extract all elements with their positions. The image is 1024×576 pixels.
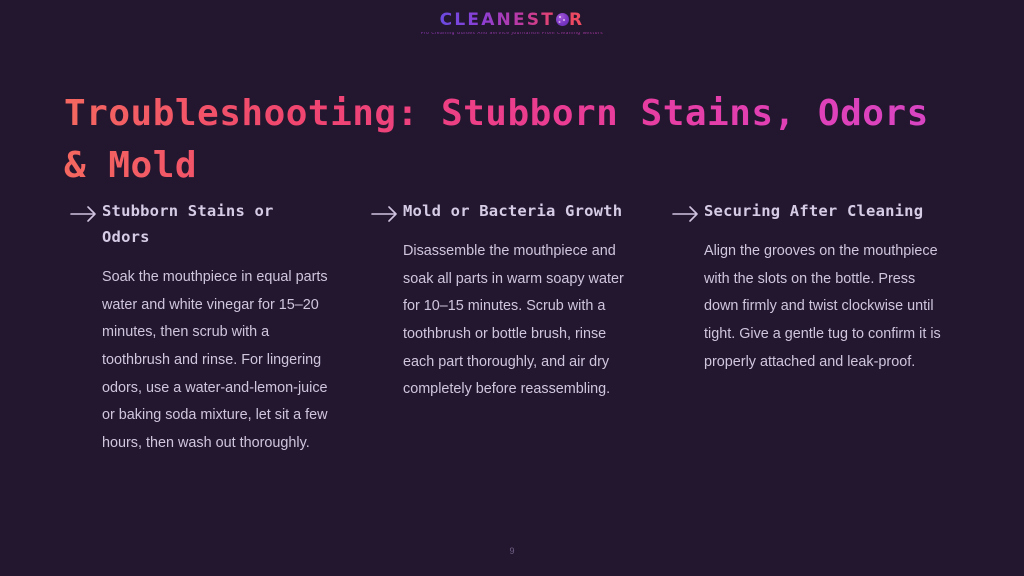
arrow-right-icon [672,205,704,223]
column-heading: Mold or Bacteria Growth [403,198,623,224]
arrow-right-icon [371,205,403,223]
brand-wordmark-suffix: R [569,10,584,30]
column-text: Disassemble the mouthpiece and soak all … [403,238,641,404]
brand-tagline: Pro Cleaning Guides And Service Journali… [0,32,1024,36]
brand-logo: CLEANESTR Pro Cleaning Guides And Servic… [0,12,1024,36]
brand-wordmark-prefix: CLEANEST [440,10,555,30]
page-title: Troubleshooting: Stubborn Stains, Odors … [64,88,964,192]
column-heading: Stubborn Stains or Odors [102,198,322,250]
column-securing-after-cleaning: Securing After Cleaning Align the groove… [672,198,973,458]
content-columns: Stubborn Stains or Odors Soak the mouthp… [70,198,972,458]
column-text: Soak the mouthpiece in equal parts water… [102,264,334,458]
column-stubborn-stains-or-odors: Stubborn Stains or Odors Soak the mouthp… [70,198,371,458]
arrow-right-icon [70,205,102,223]
brand-wordmark: CLEANESTR [440,12,585,29]
page-number: 9 [0,546,1024,556]
column-mold-or-bacteria-growth: Mold or Bacteria Growth Disassemble the … [371,198,672,458]
column-text: Align the grooves on the mouthpiece with… [704,238,942,376]
column-heading: Securing After Cleaning [704,198,924,224]
globe-icon [556,13,569,26]
